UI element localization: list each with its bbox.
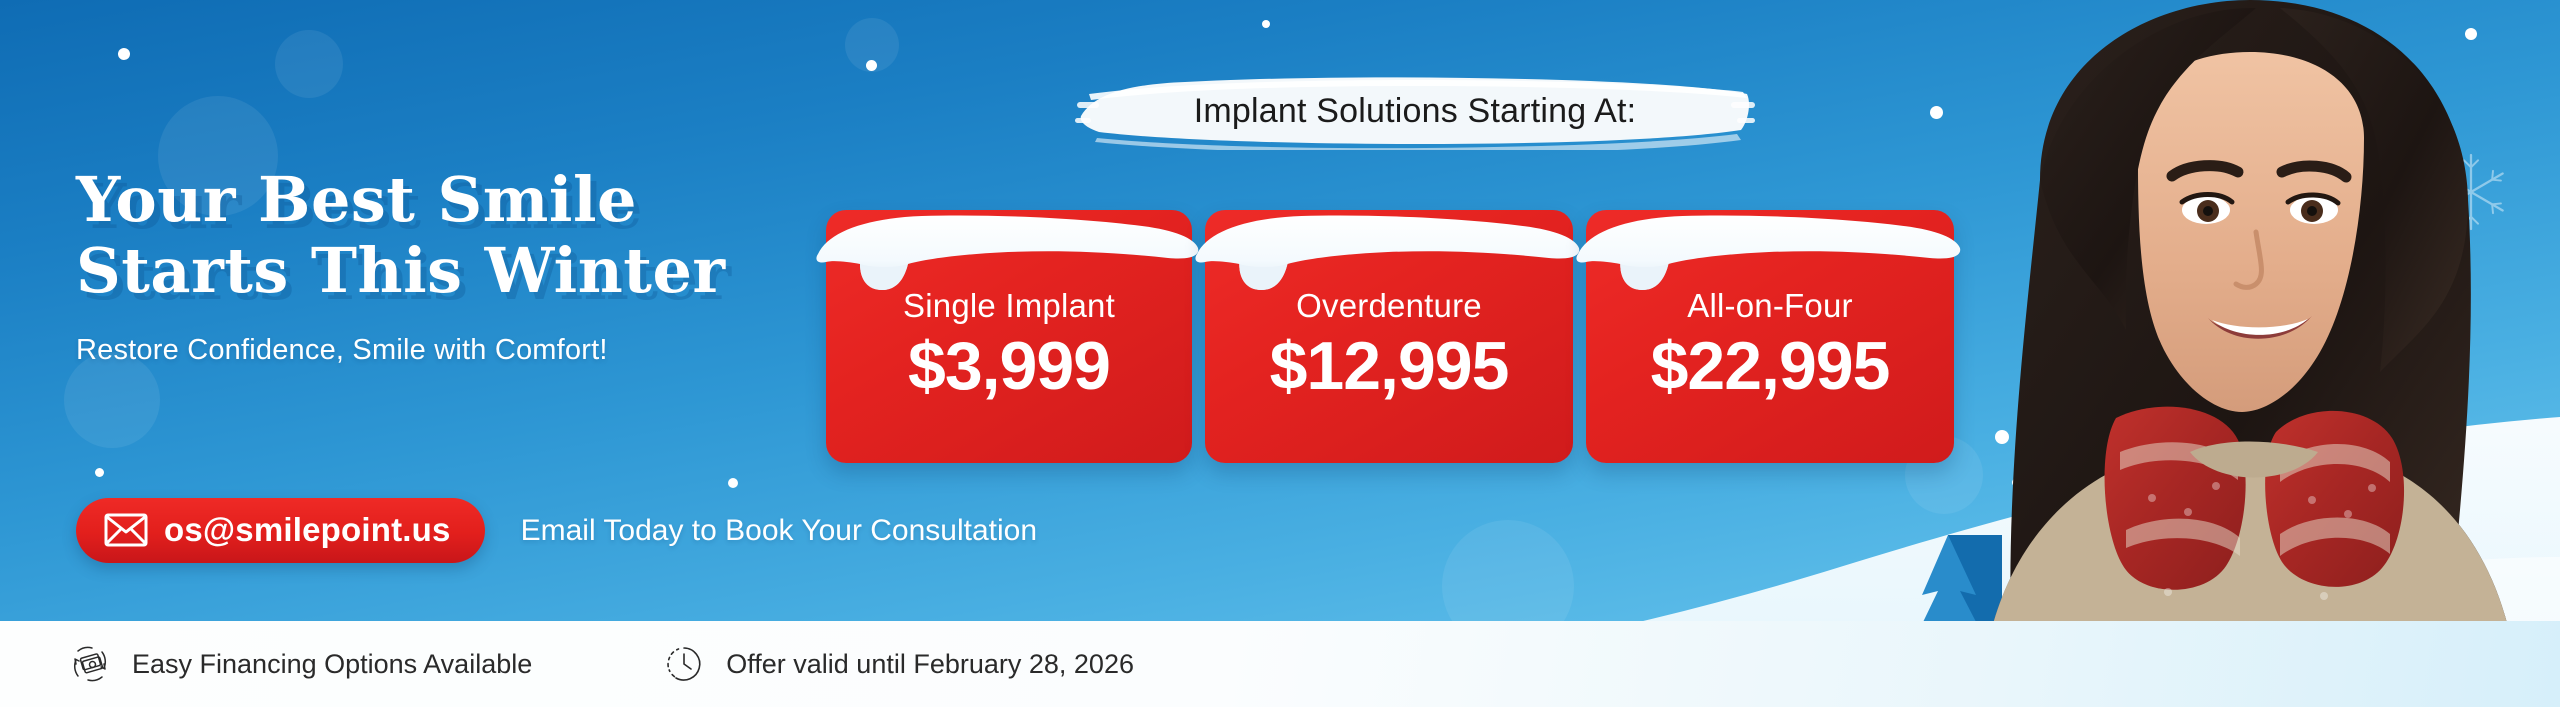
offers-heading-label: Implant Solutions Starting At: (1075, 72, 1755, 150)
snow-dot (728, 478, 738, 488)
snow-cap-shape (1572, 208, 1966, 298)
price-card-overdenture[interactable]: Overdenture $12,995 (1205, 210, 1573, 463)
snow-dot (1930, 106, 1943, 119)
price-card: Overdenture $12,995 (1205, 185, 1573, 463)
subheadline: Restore Confidence, Smile with Comfort! (76, 334, 836, 367)
footer-bar: Easy Financing Options Available Offer v… (0, 621, 2560, 707)
footer-item-label: Offer valid until February 28, 2026 (726, 649, 1134, 680)
cta-row: os@smilepoint.us Email Today to Book You… (76, 498, 1037, 563)
snow-dot (95, 468, 104, 477)
price-card-list: Single Implant $3,999 Overdenture $12,99… (826, 185, 1954, 463)
price-card-name: Overdenture (1296, 287, 1482, 325)
price-card-price: $22,995 (1651, 327, 1890, 405)
offers-heading-banner: Implant Solutions Starting At: (1075, 72, 1755, 150)
snow-dot (866, 60, 877, 71)
snowflake-icon (2427, 148, 2515, 236)
price-card: All-on-Four $22,995 (1586, 185, 1954, 463)
snowflake-icon (2046, 118, 2172, 244)
snow-dot (118, 48, 130, 60)
clock-icon (662, 642, 706, 686)
price-card-single-implant[interactable]: Single Implant $3,999 (826, 210, 1192, 463)
footer-item-financing: Easy Financing Options Available (68, 642, 532, 686)
price-card: Single Implant $3,999 (826, 185, 1192, 463)
bokeh-circle (275, 30, 343, 98)
email-cta-button[interactable]: os@smilepoint.us (76, 498, 485, 563)
envelope-icon (104, 513, 148, 547)
financing-icon (68, 642, 112, 686)
footer-item-offer-validity: Offer valid until February 28, 2026 (662, 642, 1134, 686)
page-title: Your Best Smile Starts This Winter (76, 168, 836, 302)
hero-copy: Your Best Smile Starts This Winter Resto… (76, 168, 836, 367)
snow-dot (2465, 28, 2477, 40)
price-card-price: $12,995 (1270, 327, 1509, 405)
bokeh-circle (845, 18, 899, 72)
price-card-price: $3,999 (908, 327, 1110, 405)
snow-cap-shape (812, 208, 1204, 298)
winter-dental-promo-banner: Your Best Smile Starts This Winter Resto… (0, 0, 2560, 707)
footer-item-label: Easy Financing Options Available (132, 649, 532, 680)
snow-dot (1262, 20, 1270, 28)
snow-cap-shape (1191, 208, 1585, 298)
email-address-label: os@smilepoint.us (164, 511, 451, 549)
snow-dot (2012, 478, 2021, 487)
price-card-name: All-on-Four (1687, 287, 1852, 325)
headline-line-2: Starts This Winter (76, 239, 836, 302)
price-card-name: Single Implant (903, 287, 1115, 325)
snow-dot (1995, 430, 2009, 444)
cta-note: Email Today to Book Your Consultation (521, 514, 1037, 548)
price-card-all-on-four[interactable]: All-on-Four $22,995 (1586, 210, 1954, 463)
headline-line-1: Your Best Smile (76, 163, 637, 236)
